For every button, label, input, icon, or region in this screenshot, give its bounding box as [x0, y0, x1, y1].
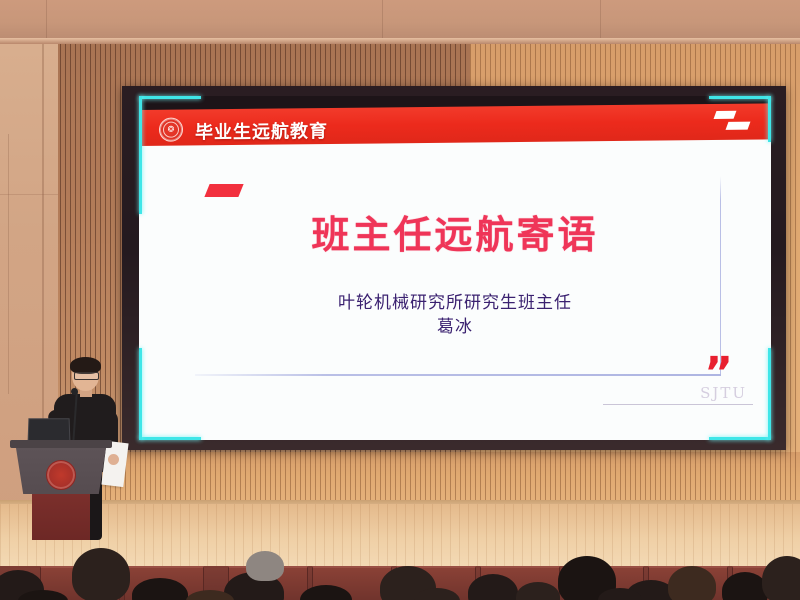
sjtu-crest-icon: [46, 460, 76, 490]
slide-subtitle: 叶轮机械研究所研究生班主任: [139, 288, 771, 313]
screen-frame-top-left: [139, 96, 201, 99]
sjtu-watermark: SJTU: [700, 384, 747, 402]
upper-wall: [0, 0, 800, 40]
podium: [10, 440, 112, 512]
screen-frame-right-bottom: [768, 348, 771, 440]
seal-glyph: ❂: [168, 126, 175, 134]
podium-top: [10, 440, 112, 448]
sjtu-seal-icon: ❂: [159, 118, 183, 142]
audience-head: [72, 548, 130, 600]
screen-frame-top-right: [709, 96, 771, 99]
auditorium-scene: ❂ 毕业生远航教育 ” 班主任远航寄语 叶轮机械研究所研究生班主任 葛冰 SJT…: [0, 0, 800, 600]
screen-frame-bottom-left: [139, 437, 201, 440]
slide-header-title: 毕业生远航教育: [195, 117, 328, 144]
presentation-slide[interactable]: ❂ 毕业生远航教育 ” 班主任远航寄语 叶轮机械研究所研究生班主任 葛冰 SJT…: [139, 96, 771, 440]
screen-frame-bottom-right: [709, 437, 771, 440]
screen-frame-right-top: [768, 96, 771, 142]
microphone-icon: [71, 388, 78, 395]
slash-decoration-icon: [715, 111, 749, 133]
slide-title: 班主任远航寄语: [139, 204, 771, 259]
glasses-icon: [74, 372, 99, 380]
screen-frame-left: [139, 96, 142, 214]
podium-base: [32, 494, 90, 540]
presenter-name: 葛冰: [139, 312, 771, 337]
screen-frame-left-bottom: [139, 348, 142, 440]
audience-head: [246, 551, 284, 581]
audience-head: [668, 566, 716, 600]
slide-header-bar: ❂ 毕业生远航教育: [139, 103, 771, 146]
accent-parallelogram: [204, 184, 243, 197]
horizontal-rule: [195, 374, 721, 376]
watermark-rule: [603, 404, 753, 405]
